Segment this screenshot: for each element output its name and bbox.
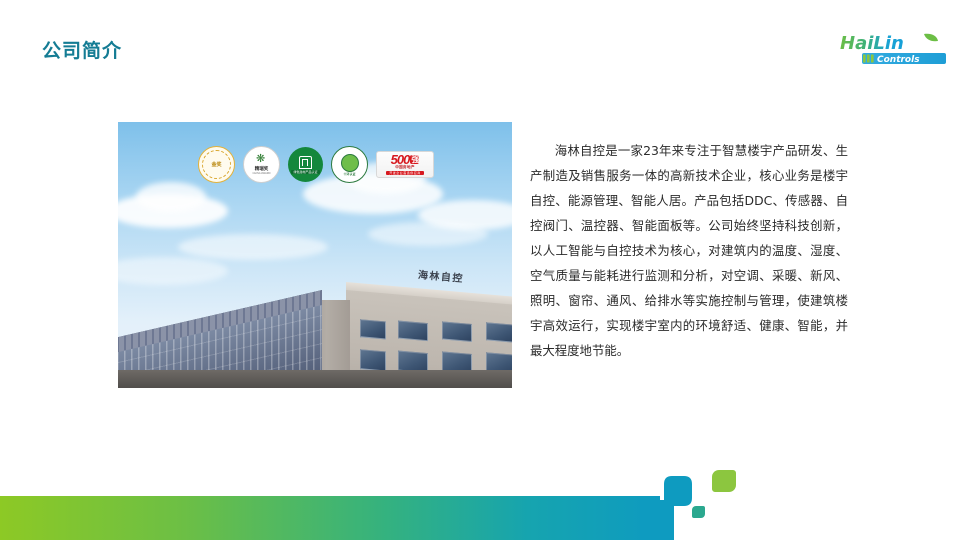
cloud-shape <box>118 257 228 285</box>
page-title: 公司简介 <box>42 42 122 61</box>
slide-canvas: 公司简介 HaiLin Controls <box>0 0 960 540</box>
footer-teal-square <box>692 506 705 518</box>
green-building-product-seal-icon: 绿色建材产品认证 <box>288 147 323 182</box>
badge-sublabel: CHINA AWARD <box>253 172 271 175</box>
badge-label: 绿色建材产品认证 <box>291 170 319 174</box>
badge-top-500: 500强 中国房地产 开发企业首选供应商 <box>376 151 434 178</box>
logo-wordmark-text: HaiLin <box>840 33 904 54</box>
company-profile-paragraph: 海林自控是一家23年来专注于智慧楼宇产品研发、生产制造及销售服务一体的高新技术企… <box>530 138 848 363</box>
ground-strip <box>118 370 512 388</box>
badge-environmental-label: 十环认证 <box>331 146 368 183</box>
footer-gradient-bar <box>0 496 660 540</box>
logo-svg: HaiLin Controls <box>836 30 948 68</box>
badge-clover: ❋ 精瑞奖 CHINA AWARD <box>243 146 280 183</box>
clover-certification-seal-icon: ❋ 精瑞奖 CHINA AWARD <box>243 146 280 183</box>
clover-icon: ❋ <box>256 154 267 165</box>
footer-blue-shape <box>640 470 696 540</box>
logo-controls-text: Controls <box>877 55 920 65</box>
gold-award-seal-icon: 金奖 <box>198 146 235 183</box>
footer-blue-path <box>640 476 692 540</box>
hailin-controls-logo: HaiLin Controls <box>836 30 948 68</box>
cloud-shape <box>136 182 206 212</box>
badge-sublabel: 中国房地产 <box>395 165 414 170</box>
footer-green-square <box>712 470 736 492</box>
environmental-label-seal-icon: 十环认证 <box>331 146 368 183</box>
company-building-photo: 金奖 ❋ 精瑞奖 CHINA AWARD 绿色建材产品认证 十 <box>118 122 512 388</box>
badge-number-suffix: 强 <box>410 155 419 164</box>
globe-icon <box>341 154 359 172</box>
leaf-icon <box>924 34 938 41</box>
badge-bar-label: 开发企业首选供应商 <box>386 171 424 175</box>
house-icon <box>299 156 312 169</box>
cloud-shape <box>178 234 328 260</box>
top-500-brand-badge-icon: 500强 中国房地产 开发企业首选供应商 <box>376 151 434 178</box>
certification-badges-row: 金奖 ❋ 精瑞奖 CHINA AWARD 绿色建材产品认证 十 <box>198 146 434 183</box>
badge-green-building: 绿色建材产品认证 <box>288 147 323 182</box>
building-signage: 海林自控 <box>417 266 464 285</box>
badge-label: 金奖 <box>211 161 221 168</box>
cloud-shape <box>368 222 488 246</box>
badge-sublabel: 十环认证 <box>343 172 355 176</box>
badge-gold-award: 金奖 <box>198 146 235 183</box>
